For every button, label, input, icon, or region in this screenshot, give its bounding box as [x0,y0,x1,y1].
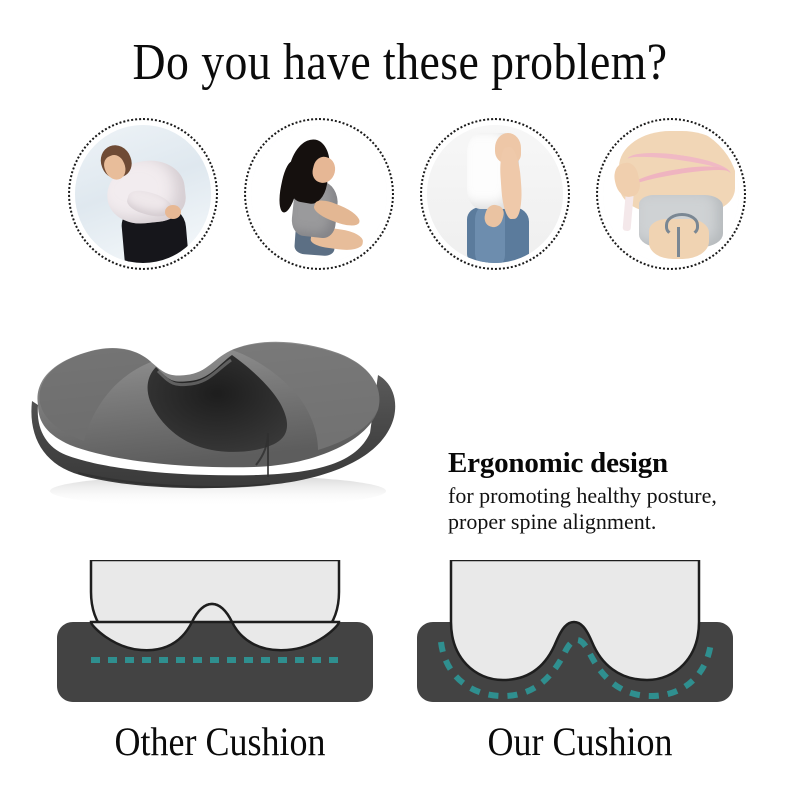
product-photo [18,305,408,520]
problem-circle-back-pain-man [68,118,218,270]
problem-circles-row [0,118,800,278]
dotted-ring [420,118,570,270]
other-cushion-label: Other Cushion [72,718,369,766]
problem-circle-lower-back-ache-woman [420,118,570,270]
ergonomic-title: Ergonomic design [448,446,784,480]
problem-circle-slouching-woman [244,118,394,270]
comparison-other-cushion: Other Cushion [55,560,385,800]
comparison-section: Other Cushion Our Cushion [0,560,800,800]
product-infographic: Do you have these problem? [0,0,800,800]
problem-circle-waist-measuring [596,118,746,270]
page-title: Do you have these problem? [48,34,752,92]
dotted-ring [244,118,394,270]
dotted-ring [68,118,218,270]
our-cushion-label: Our Cushion [432,718,729,766]
comparison-our-cushion: Our Cushion [415,560,745,800]
ergonomic-description: for promoting healthy posture, proper sp… [448,483,784,535]
dotted-ring [596,118,746,270]
ergonomic-line-2: proper spine alignment. [448,509,784,535]
ergonomic-line-1: for promoting healthy posture, [448,483,784,509]
ergonomic-design-block: Ergonomic design for promoting healthy p… [448,446,784,535]
